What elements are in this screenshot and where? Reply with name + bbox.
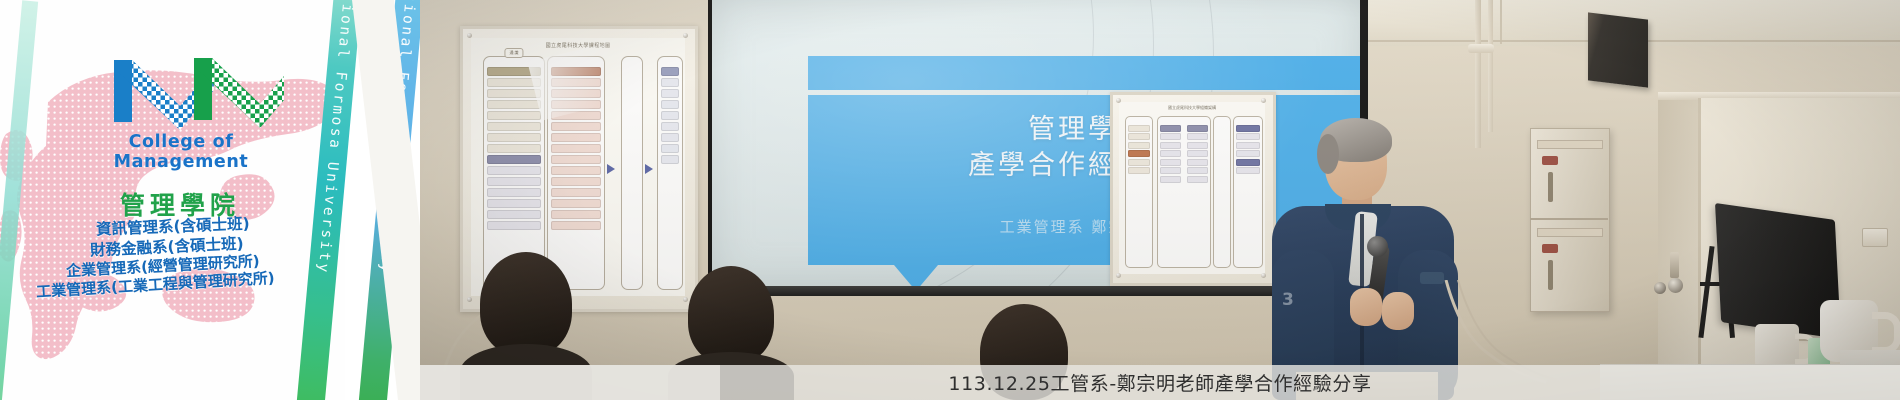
mount-screw-icon xyxy=(683,297,688,302)
department-list: 資訊管理系(含碩士班) 財務金融系(含碩士班) 企業管理系(經營管理研究所) 工… xyxy=(8,218,338,291)
mount-screw-icon xyxy=(1261,98,1266,103)
poster-heading: 國立虎尾科技大學課程地圖 xyxy=(471,42,685,49)
caption-bar: 113.12.25工管系-鄭宗明老師產學合作經驗分享 xyxy=(420,365,1900,400)
banner-root: College of Management 管理學院 資訊管理系(含碩士班) 財… xyxy=(0,0,1900,400)
poster-column-header: 通 識 xyxy=(504,48,523,58)
conduit-clamp xyxy=(1468,44,1494,53)
mount-screw-icon xyxy=(1116,273,1121,278)
panel-warning-sticker xyxy=(1542,244,1558,253)
ceiling-speaker xyxy=(1588,12,1648,87)
panel-switch xyxy=(1548,172,1553,202)
brand-panel: College of Management 管理學院 資訊管理系(含碩士班) 財… xyxy=(0,0,345,400)
panel-switch xyxy=(1548,260,1553,290)
projector-screen-bottom-bar xyxy=(708,286,1368,296)
wall-outlet xyxy=(1862,228,1888,247)
panel-label xyxy=(1537,140,1603,149)
logo-wordmark: College of Management xyxy=(66,132,296,172)
microphone-head-icon xyxy=(1367,236,1388,257)
door-leaf-open xyxy=(1658,100,1702,400)
audience-head xyxy=(688,266,774,364)
wall-conduit xyxy=(1488,0,1493,132)
panel-warning-sticker xyxy=(1542,156,1558,165)
ceiling-tile-seam xyxy=(1500,0,1502,44)
presenter-hand-right xyxy=(1382,292,1414,330)
pitcher-handle xyxy=(1872,312,1900,354)
caption-text: 113.12.25工管系-鄭宗明老師產學合作經驗分享 xyxy=(948,369,1371,396)
poster-heading: 國立虎尾科技大學組織架構 xyxy=(1119,105,1265,111)
presenter-hair-side xyxy=(1317,134,1339,174)
slide-title-line2: 產學合作經驗分享 xyxy=(808,148,1360,184)
mount-screw-icon xyxy=(1261,273,1266,278)
wall-poster-board-right: 國立虎尾科技大學組織架構 xyxy=(1110,92,1276,286)
audience-head xyxy=(480,252,572,356)
slide-title: 管理學院 產學合作經驗分享 xyxy=(808,112,1360,183)
panel-label xyxy=(1537,228,1603,237)
wall-conduit xyxy=(1475,0,1481,148)
mount-screw-icon xyxy=(1116,98,1121,103)
slide-title-line1: 管理學院 xyxy=(808,112,1360,148)
electrical-panel-seam xyxy=(1530,218,1608,220)
presenter-hand-left xyxy=(1350,288,1382,326)
flow-arrow-icon xyxy=(607,164,615,174)
lecture-hall-photo: 國立虎尾科技大學課程地圖 通 識 xyxy=(420,0,1900,400)
door-lock-plate xyxy=(1670,252,1679,278)
mount-screw-icon xyxy=(683,33,688,38)
mount-screw-icon xyxy=(467,33,472,38)
slide-callout-tail xyxy=(894,265,938,286)
presenter-jacket-number: 3 xyxy=(1282,290,1294,310)
slide-accent-band xyxy=(808,56,1360,90)
door-knob-icon xyxy=(1668,278,1683,293)
door-knob-icon xyxy=(1654,282,1666,294)
flow-arrow-icon xyxy=(645,164,653,174)
